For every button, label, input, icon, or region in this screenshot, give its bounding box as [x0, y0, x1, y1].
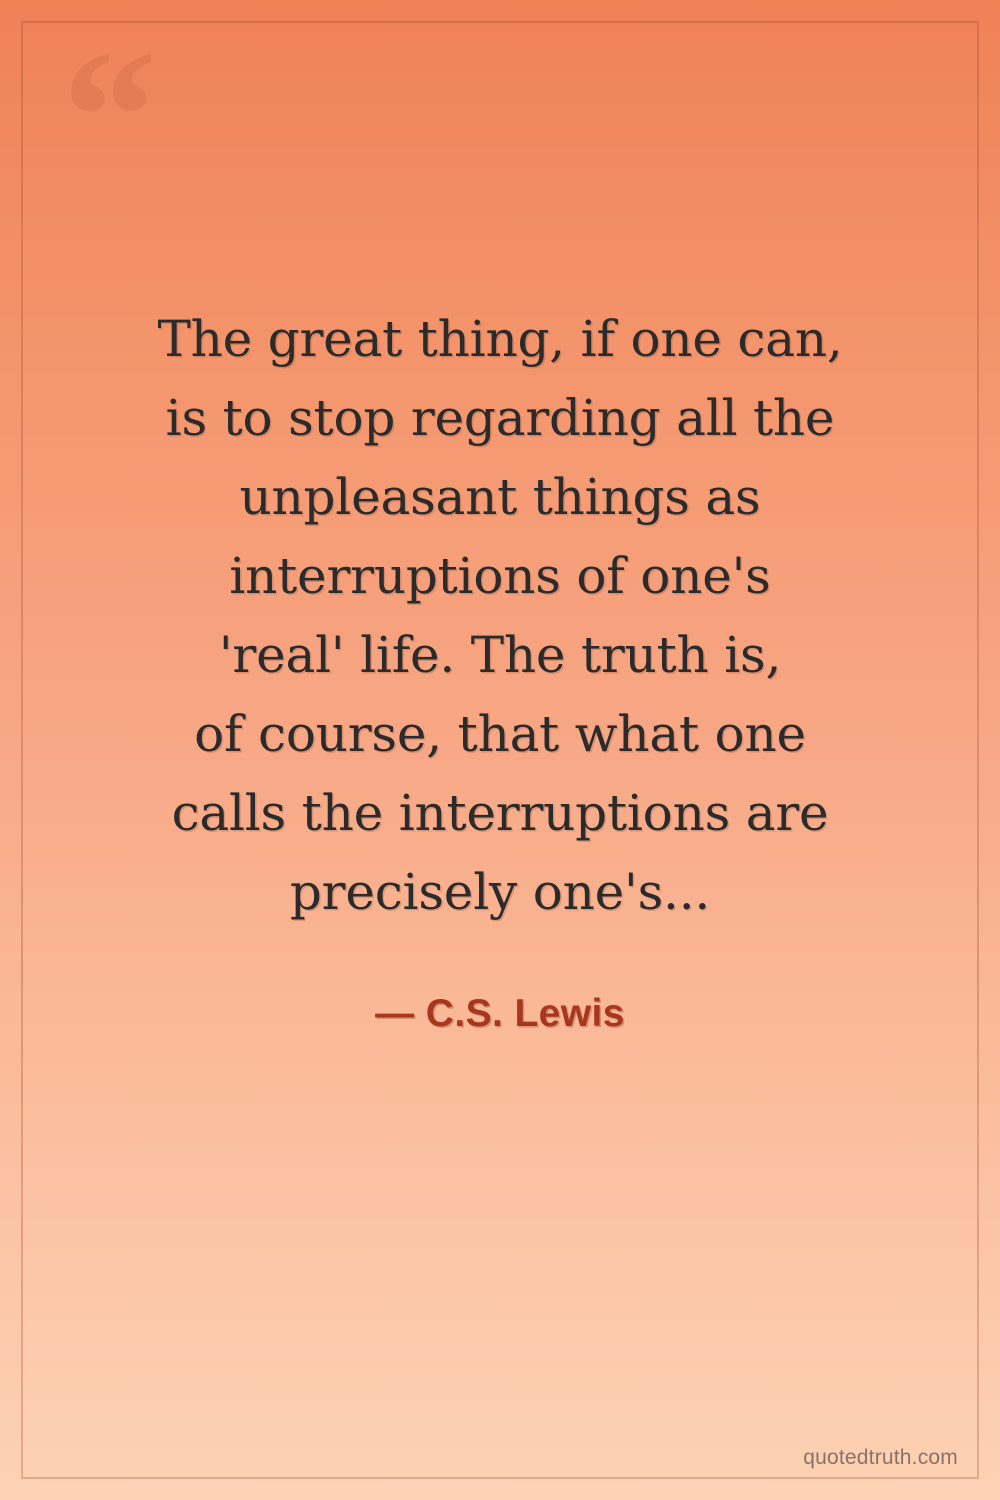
quote-block: The great thing, if one can, is to stop …	[60, 300, 940, 932]
quote-card: “ The great thing, if one can, is to sto…	[0, 0, 1000, 1500]
site-watermark: quotedtruth.com	[803, 1446, 958, 1470]
open-quote-icon: “	[62, 22, 157, 212]
quote-text: The great thing, if one can, is to stop …	[60, 300, 940, 932]
quote-attribution: — C.S. Lewis	[0, 992, 1000, 1036]
